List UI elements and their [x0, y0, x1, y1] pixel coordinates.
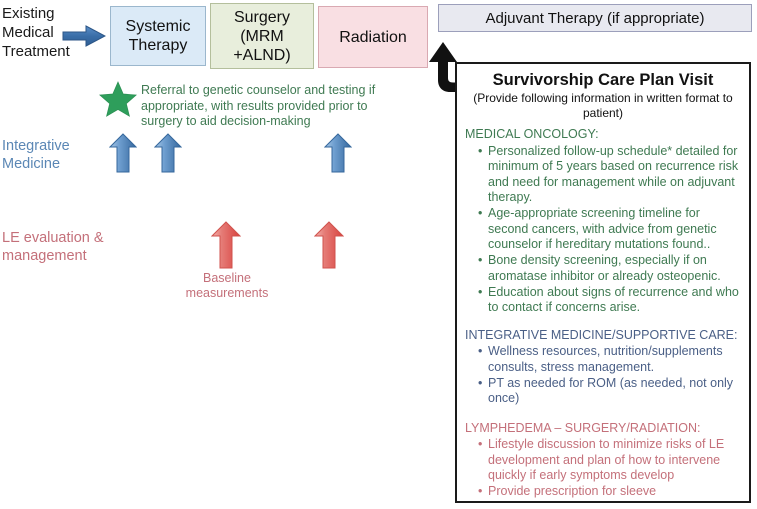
- baseline-measurements-caption: Baseline measurements: [181, 271, 273, 301]
- treatment-box-label: Radiation: [336, 28, 410, 47]
- list-item: PT as needed for ROM (as needed, not onl…: [479, 376, 741, 407]
- blue-up-arrow-icon: [154, 133, 182, 173]
- blue-up-arrow-icon: [109, 133, 137, 173]
- integrative-medicine-row-label: Integrative Medicine: [2, 137, 102, 173]
- treatment-box-surgery[interactable]: Surgery (MRM +ALND): [210, 3, 314, 69]
- referral-note-text: Referral to genetic counselor and testin…: [141, 83, 411, 130]
- section-item-list: Wellness resources, nutrition/supplement…: [465, 344, 741, 407]
- panel-section-lymphedema: LYMPHEDEMA – SURGERY/RADIATION: Lifestyl…: [465, 421, 741, 500]
- survivorship-care-plan-panel: Survivorship Care Plan Visit (Provide fo…: [455, 62, 751, 503]
- red-up-arrow-icon: [211, 221, 241, 269]
- adjuvant-therapy-box[interactable]: Adjuvant Therapy (if appropriate): [438, 4, 752, 32]
- red-up-arrow-icon: [314, 221, 344, 269]
- blue-up-arrow-icon: [324, 133, 352, 173]
- adjuvant-therapy-label: Adjuvant Therapy (if appropriate): [482, 9, 707, 28]
- list-item: Provide prescription for sleeve: [479, 484, 741, 500]
- list-item: Age-appropriate screening timeline for s…: [479, 206, 741, 253]
- treatment-box-radiation[interactable]: Radiation: [318, 6, 428, 68]
- treatment-box-label: Systemic Therapy: [111, 17, 205, 55]
- treatment-box-systemic-therapy[interactable]: Systemic Therapy: [110, 6, 206, 66]
- panel-subtitle: (Provide following information in writte…: [465, 91, 741, 120]
- list-item: Education about signs of recurrence and …: [479, 285, 741, 316]
- section-heading: LYMPHEDEMA – SURGERY/RADIATION:: [465, 421, 741, 437]
- section-item-list: Lifestyle discussion to minimize risks o…: [465, 437, 741, 500]
- section-heading: MEDICAL ONCOLOGY:: [465, 127, 741, 143]
- list-item: Lifestyle discussion to minimize risks o…: [479, 437, 741, 484]
- list-item: Personalized follow-up schedule* detaile…: [479, 144, 741, 206]
- section-heading: INTEGRATIVE MEDICINE/SUPPORTIVE CARE:: [465, 328, 741, 344]
- list-item: Bone density screening, especially if on…: [479, 253, 741, 284]
- panel-section-integrative-medicine: INTEGRATIVE MEDICINE/SUPPORTIVE CARE: We…: [465, 328, 741, 407]
- le-evaluation-row-label: LE evaluation & management: [2, 229, 117, 265]
- blue-right-arrow-icon: [62, 25, 106, 47]
- panel-title: Survivorship Care Plan Visit: [465, 70, 741, 90]
- section-item-list: Personalized follow-up schedule* detaile…: [465, 144, 741, 316]
- diagram-canvas: Existing Medical Treatment Systemic Ther…: [0, 0, 757, 509]
- list-item: Wellness resources, nutrition/supplement…: [479, 344, 741, 375]
- treatment-box-label: Surgery (MRM +ALND): [211, 8, 313, 65]
- green-star-icon: [99, 81, 137, 117]
- panel-section-medical-oncology: MEDICAL ONCOLOGY: Personalized follow-up…: [465, 127, 741, 316]
